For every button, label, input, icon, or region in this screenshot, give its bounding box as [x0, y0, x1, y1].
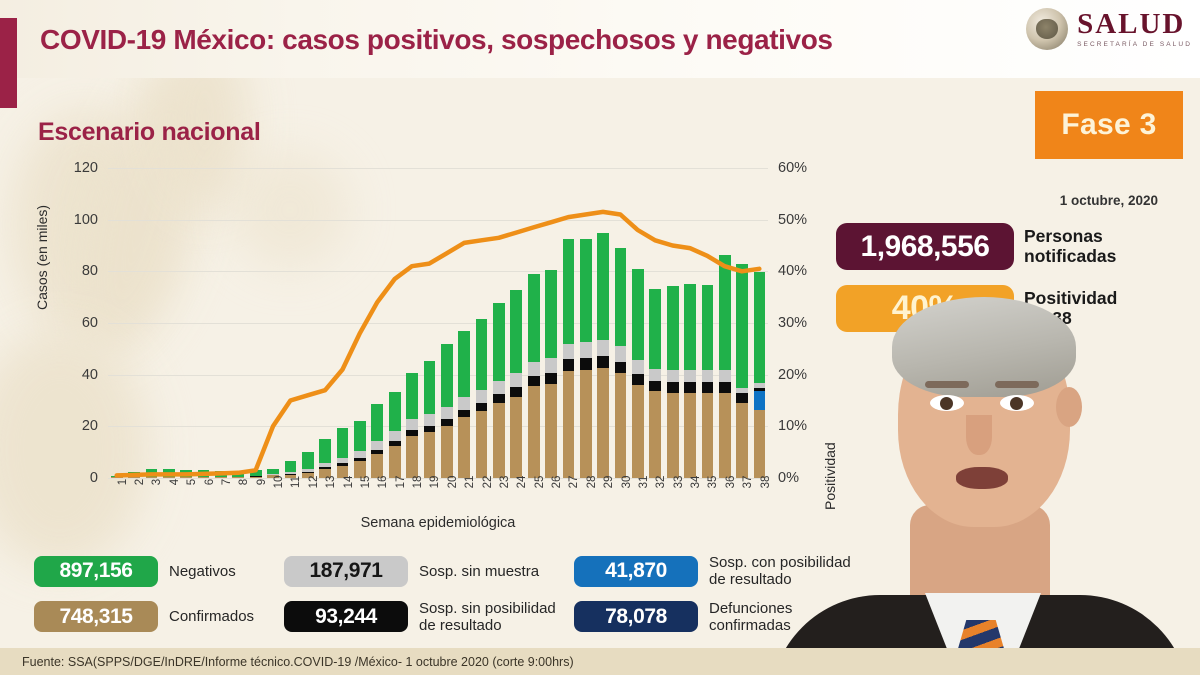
chart-bar-column: 32	[647, 168, 664, 478]
chart-bar-segment	[649, 369, 661, 381]
chart-bar	[337, 428, 349, 478]
chart-bar-segment	[719, 382, 731, 392]
chart-bar	[615, 248, 627, 478]
chart-bar-segment	[702, 370, 714, 382]
chart-bar-column: 23	[490, 168, 507, 478]
chart-bar-segment	[684, 382, 696, 392]
legend-label: Confirmados	[169, 608, 254, 625]
chart-bar-segment	[649, 381, 661, 391]
presenter-eyebrow	[995, 381, 1039, 388]
chart-bar-column: 29	[595, 168, 612, 478]
chart-bar-segment	[406, 436, 418, 478]
legend-value: 41,870	[605, 559, 667, 583]
legend-item: 748,315 Confirmados	[34, 600, 284, 635]
chart-bar-column: 6	[195, 168, 212, 478]
chart-bar-segment	[684, 370, 696, 382]
chart-bar-segment	[458, 417, 470, 478]
chart-bar-segment	[545, 384, 557, 478]
chart-y-tick-right: 60%	[768, 160, 807, 176]
chart-bar-column: 17	[386, 168, 403, 478]
legend-swatch: 93,244	[284, 601, 408, 632]
chart-bar-segment	[250, 477, 262, 478]
chart-bar-segment	[476, 411, 488, 478]
chart-bar	[597, 233, 609, 478]
page-title: COVID-19 México: casos positivos, sospec…	[40, 24, 833, 56]
chart-bar-segment	[719, 393, 731, 478]
logo-subtitle: SECRETARÍA DE SALUD	[1077, 42, 1192, 49]
chart-bar-segment	[441, 344, 453, 407]
chart-bar-column: 19	[421, 168, 438, 478]
presenter-nose	[966, 415, 992, 455]
presenter-eye	[930, 395, 964, 411]
chart-bar-column: 24	[508, 168, 525, 478]
chart-bar-column: 2	[125, 168, 142, 478]
legend-label: Negativos	[169, 563, 236, 580]
chart-bar-segment	[389, 446, 401, 478]
chart-bar	[580, 239, 592, 478]
presenter-mouth	[956, 467, 1008, 489]
chart-bar-segment	[389, 392, 401, 431]
chart-bar-column: 36	[716, 168, 733, 478]
chart-x-tick: 5	[186, 479, 198, 485]
chart-bar-segment	[563, 344, 575, 360]
chart-bar-segment	[528, 274, 540, 362]
chart-y-tick: 40	[82, 367, 108, 383]
chart-bar-segment	[528, 386, 540, 478]
chart-bar-segment	[580, 342, 592, 358]
chart-bar-segment	[580, 358, 592, 370]
chart-bar-column: 35	[699, 168, 716, 478]
chart-bar-segment	[371, 404, 383, 441]
phase-badge-label: Fase 3	[1061, 108, 1156, 142]
chart-bar-segment	[510, 397, 522, 478]
chart-bar	[180, 470, 192, 478]
chart-bar-segment	[736, 403, 748, 478]
chart-bar-column: 11	[282, 168, 299, 478]
chart-x-tick: 4	[169, 479, 181, 485]
chart-bar-column: 18	[403, 168, 420, 478]
chart-bar-segment	[580, 239, 592, 342]
chart-bar-segment	[476, 403, 488, 411]
chart-bar	[371, 404, 383, 478]
chart-bar-segment	[667, 370, 679, 382]
chart-bar	[111, 476, 123, 478]
legend-item: 93,244 Sosp. sin posibilidadde resultado	[284, 600, 574, 635]
chart-bar-segment	[424, 432, 436, 478]
chart-bar-segment	[371, 441, 383, 450]
presenter-eye	[1000, 395, 1034, 411]
chart-x-axis-label: Semana epidemiológica	[108, 515, 768, 531]
chart-bar	[563, 239, 575, 478]
chart-x-tick: 6	[204, 479, 216, 485]
chart-bar-segment	[528, 362, 540, 376]
chart-bar-segment	[198, 470, 210, 477]
chart-bar-segment	[424, 361, 436, 414]
chart-bar	[493, 303, 505, 478]
presenter-eyebrow	[925, 381, 969, 388]
chart-bar	[441, 344, 453, 478]
chart-bar	[458, 331, 470, 478]
chart-bar	[684, 284, 696, 478]
chart-bar-segment	[493, 381, 505, 394]
chart-bar-segment	[597, 233, 609, 340]
chart-bar	[528, 274, 540, 478]
chart-bar-column: 20	[438, 168, 455, 478]
chart-bar-segment	[702, 393, 714, 478]
chart-bar-segment	[632, 269, 644, 361]
legend-value: 78,078	[605, 605, 667, 629]
chart-x-tick: 2	[134, 479, 146, 485]
chart-y-tick-right: 50%	[768, 212, 807, 228]
legend-value: 897,156	[59, 559, 132, 583]
chart-plot-area: 00%2010%4020%6030%8040%10050%12060% 1234…	[108, 168, 768, 478]
chart-bar-segment	[684, 393, 696, 478]
chart-bar	[476, 319, 488, 478]
chart-bar-segment	[285, 461, 297, 472]
chart-y-tick: 0	[90, 470, 108, 486]
chart-bar	[736, 264, 748, 478]
chart-bar-segment	[441, 419, 453, 426]
legend-swatch: 897,156	[34, 556, 158, 587]
chart-x-tick: 1	[117, 479, 129, 485]
chart-bar-column: 26	[542, 168, 559, 478]
chart-bar-segment	[667, 382, 679, 392]
chart-bars: 1234567891011121314151617181920212223242…	[108, 168, 768, 478]
chart-bar	[146, 469, 158, 478]
chart-bar-segment	[458, 331, 470, 397]
chart-bar-segment	[510, 290, 522, 373]
chart-bar-segment	[441, 407, 453, 419]
chart-bar-segment	[649, 391, 661, 478]
chart-bar-segment	[476, 390, 488, 403]
chart-bar	[163, 469, 175, 478]
chart-bar-column: 25	[525, 168, 542, 478]
chart-bar	[319, 439, 331, 479]
chart-x-tick: 9	[256, 479, 268, 485]
chart-bar-segment	[736, 264, 748, 388]
chart-bar-column: 31	[629, 168, 646, 478]
stat-value: 1,968,556	[861, 230, 990, 264]
chart-bar-column: 5	[178, 168, 195, 478]
chart-bar-segment	[684, 284, 696, 371]
chart-bar	[649, 289, 661, 478]
salud-logo: SALUD SECRETARÍA DE SALUD	[1026, 8, 1192, 50]
chart-bar-segment	[649, 289, 661, 369]
chart-bar-segment	[441, 426, 453, 478]
chart-bar-segment	[632, 360, 644, 373]
chart-bar-segment	[615, 248, 627, 346]
chart-bar	[510, 290, 522, 478]
chart-bar	[719, 255, 731, 478]
chart-bar-segment	[545, 373, 557, 384]
chart-bar	[424, 361, 436, 478]
chart-y-axis-label: Casos (en miles)	[34, 205, 50, 310]
chart-bar-segment	[319, 439, 331, 464]
chart-y-tick: 60	[82, 315, 108, 331]
chart-bar-segment	[615, 373, 627, 478]
chart-bar-column: 4	[160, 168, 177, 478]
chart-x-tick: 3	[151, 479, 163, 485]
chart-bar-segment	[424, 414, 436, 426]
chart-bar	[354, 421, 366, 478]
chart-bar-column: 9	[247, 168, 264, 478]
chart-y-tick: 20	[82, 418, 108, 434]
stat-label: Personasnotificadas	[1024, 227, 1116, 266]
chart-bar-column: 12	[299, 168, 316, 478]
chart-bar-segment	[736, 393, 748, 403]
chart-bar	[632, 269, 644, 478]
legend-label: Sosp. sin posibilidadde resultado	[419, 600, 556, 635]
chart-bar	[232, 471, 244, 478]
chart-bar-segment	[458, 397, 470, 410]
chart-bar	[545, 270, 557, 478]
phase-badge: Fase 3	[1035, 91, 1183, 159]
chart-bar-segment	[458, 410, 470, 418]
chart-bar-segment	[632, 385, 644, 478]
chart-bar-segment	[354, 451, 366, 458]
legend: 897,156 Negativos 187,971 Sosp. sin mues…	[34, 554, 851, 634]
chart-bar-segment	[510, 373, 522, 387]
chart-bar-column: 10	[264, 168, 281, 478]
legend-swatch: 748,315	[34, 601, 158, 632]
legend-swatch: 41,870	[574, 556, 698, 587]
chart-bar-segment	[302, 452, 314, 469]
chart-bar-column: 1	[108, 168, 125, 478]
presenter-video	[760, 275, 1200, 675]
chart-bar-column: 3	[143, 168, 160, 478]
logo-wordmark: SALUD	[1077, 10, 1192, 39]
chart-bar-segment	[371, 454, 383, 478]
chart-bar-segment	[510, 387, 522, 397]
legend-value: 748,315	[59, 605, 132, 629]
chart-bar-column: 16	[369, 168, 386, 478]
chart-bar-segment	[702, 382, 714, 392]
chart-bar-segment	[354, 421, 366, 451]
chart-bar-segment	[719, 370, 731, 382]
chart-bar	[250, 470, 262, 478]
legend-item: 897,156 Negativos	[34, 554, 284, 589]
legend-swatch: 78,078	[574, 601, 698, 632]
stat-value-pill: 1,968,556	[836, 223, 1014, 270]
chart-bar-segment	[667, 393, 679, 478]
chart-bar-segment	[337, 428, 349, 458]
chart-bar	[198, 470, 210, 478]
report-date: 1 octubre, 2020	[1060, 193, 1158, 208]
chart-bar-segment	[719, 255, 731, 370]
chart-bar-segment	[180, 470, 192, 477]
legend-item: 187,971 Sosp. sin muestra	[284, 554, 574, 589]
chart-y-tick: 80	[82, 263, 108, 279]
legend-value: 187,971	[309, 559, 382, 583]
chart-bar-segment	[493, 394, 505, 403]
chart-bar-column: 27	[560, 168, 577, 478]
chart-bar-column: 37	[734, 168, 751, 478]
presenter-hair	[892, 297, 1076, 397]
chart-bar-segment	[597, 368, 609, 478]
mexico-seal-icon	[1026, 8, 1068, 50]
stat-personas-notificadas: 1,968,556 Personasnotificadas	[836, 223, 1116, 270]
chart-bar-segment	[406, 419, 418, 430]
chart-bar-segment	[493, 403, 505, 478]
chart-bar-segment	[563, 371, 575, 478]
chart-bar-segment	[615, 346, 627, 362]
chart-bar-column: 34	[681, 168, 698, 478]
chart-bar-column: 15	[351, 168, 368, 478]
chart-bar	[406, 373, 418, 478]
chart-bar-segment	[493, 303, 505, 381]
chart-x-tick: 7	[221, 479, 233, 485]
chart-y-tick: 100	[74, 212, 108, 228]
chart-bar-segment	[406, 373, 418, 420]
chart-bar-column: 21	[456, 168, 473, 478]
chart-bar	[667, 286, 679, 478]
chart-bar-segment	[563, 239, 575, 344]
legend-swatch: 187,971	[284, 556, 408, 587]
chart-bar-segment	[615, 362, 627, 374]
section-subtitle: Escenario nacional	[38, 118, 260, 147]
chart-bar-column: 28	[577, 168, 594, 478]
presentation-slide: COVID-19 México: casos positivos, sospec…	[0, 0, 1200, 675]
chart-container: Casos (en miles) Positividad 00%2010%402…	[38, 160, 808, 535]
chart-bar-column: 8	[230, 168, 247, 478]
chart-bar	[702, 285, 714, 478]
chart-bar-segment	[632, 374, 644, 385]
chart-bar	[128, 472, 140, 478]
chart-bar-segment	[163, 469, 175, 476]
chart-bar-segment	[597, 356, 609, 368]
chart-bar-column: 7	[212, 168, 229, 478]
chart-bar-segment	[597, 340, 609, 356]
chart-bar-segment	[580, 370, 592, 478]
chart-bar-segment	[476, 319, 488, 390]
source-text: Fuente: SSA(SPPS/DGE/InDRE/Informe técni…	[0, 655, 574, 669]
legend-value: 93,244	[315, 605, 377, 629]
presenter-ear	[1056, 387, 1082, 427]
chart-bar-column: 30	[612, 168, 629, 478]
chart-bar-column: 13	[317, 168, 334, 478]
chart-bar-segment	[389, 431, 401, 441]
chart-bar-segment	[146, 469, 158, 476]
chart-bar	[215, 471, 227, 478]
chart-bar-segment	[702, 285, 714, 370]
chart-y-tick: 120	[74, 160, 108, 176]
chart-bar-column: 14	[334, 168, 351, 478]
chart-bar-segment	[545, 358, 557, 373]
chart-bar	[302, 452, 314, 478]
left-accent-bar	[0, 18, 17, 108]
chart-bar-segment	[545, 270, 557, 358]
legend-label: Sosp. sin muestra	[419, 563, 539, 580]
chart-bar-segment	[528, 376, 540, 386]
chart-bar-column: 22	[473, 168, 490, 478]
chart-bar	[389, 392, 401, 478]
footer-source-bar: Fuente: SSA(SPPS/DGE/InDRE/Informe técni…	[0, 648, 1200, 675]
chart-bar-segment	[667, 286, 679, 370]
chart-bar-column: 33	[664, 168, 681, 478]
chart-x-tick: 8	[238, 479, 250, 485]
chart-bar-segment	[563, 359, 575, 371]
